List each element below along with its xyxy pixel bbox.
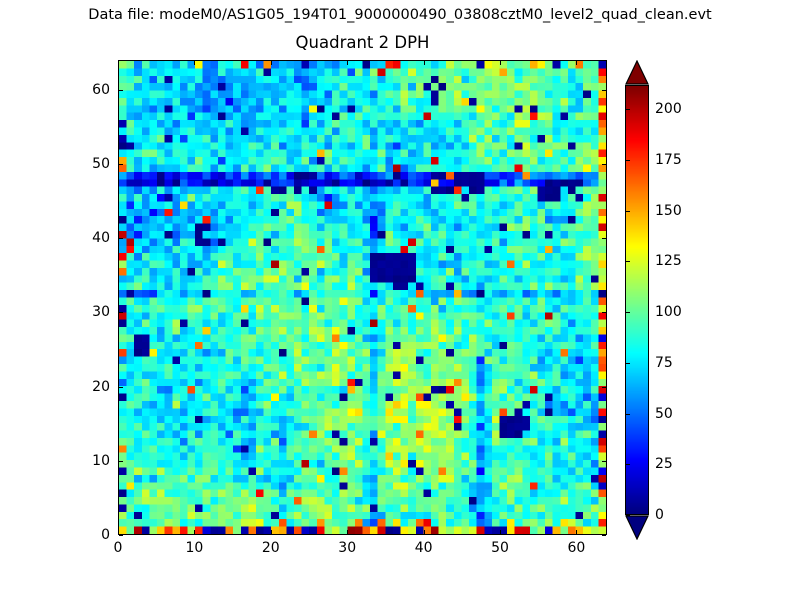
colorbar-gradient-body[interactable] — [625, 85, 649, 515]
x-tick-label: 60 — [546, 540, 606, 556]
colorbar-tick-label: 75 — [655, 355, 673, 371]
x-tick-mark-top — [271, 61, 272, 65]
y-tick-mark-right — [602, 387, 606, 388]
detector-plane-heatmap[interactable] — [119, 61, 606, 534]
page-title: Quadrant 2 DPH — [118, 33, 607, 53]
x-tick-mark-top — [424, 61, 425, 65]
y-tick-mark — [119, 535, 123, 536]
x-tick-mark-top — [576, 61, 577, 65]
colorbar-tick-label: 50 — [655, 406, 673, 422]
y-tick-label: 20 — [50, 379, 110, 395]
y-tick-mark — [119, 387, 123, 388]
x-tick-mark — [194, 530, 195, 534]
x-tick-mark — [271, 530, 272, 534]
colorbar-tick-mark — [626, 312, 630, 313]
colorbar-tick-mark — [626, 261, 630, 262]
colorbar[interactable]: 0255075100125150175200 — [625, 60, 649, 540]
y-tick-mark — [119, 461, 123, 462]
x-tick-label: 10 — [164, 540, 224, 556]
y-tick-label: 10 — [50, 453, 110, 469]
x-tick-label: 40 — [394, 540, 454, 556]
colorbar-tick-label: 200 — [655, 101, 682, 117]
x-tick-mark — [347, 530, 348, 534]
colorbar-tick-mark — [626, 464, 630, 465]
y-tick-mark-right — [602, 461, 606, 462]
x-tick-mark-top — [194, 61, 195, 65]
x-tick-mark — [424, 530, 425, 534]
x-tick-mark — [500, 530, 501, 534]
y-tick-label: 60 — [50, 82, 110, 98]
y-tick-mark-right — [602, 312, 606, 313]
y-tick-label: 50 — [50, 156, 110, 172]
y-tick-mark — [119, 90, 123, 91]
y-tick-mark — [119, 238, 123, 239]
y-tick-mark-right — [602, 90, 606, 91]
y-tick-label: 30 — [50, 304, 110, 320]
x-tick-label: 30 — [317, 540, 377, 556]
y-tick-mark-right — [602, 164, 606, 165]
colorbar-tick-mark — [626, 414, 630, 415]
colorbar-tick-mark — [626, 109, 630, 110]
y-tick-mark — [119, 164, 123, 165]
data-file-suptitle: Data file: modeM0/AS1G05_194T01_90000004… — [0, 7, 800, 24]
colorbar-tick-mark — [626, 363, 630, 364]
x-tick-label: 50 — [470, 540, 530, 556]
colorbar-tick-label: 175 — [655, 152, 682, 168]
colorbar-tick-label: 25 — [655, 456, 673, 472]
x-tick-mark — [576, 530, 577, 534]
colorbar-tick-mark — [626, 211, 630, 212]
heatmap-axes[interactable] — [118, 60, 607, 535]
colorbar-over-arrow-icon — [625, 60, 649, 85]
colorbar-tick-label: 150 — [655, 203, 682, 219]
colorbar-tick-mark — [626, 515, 630, 516]
y-tick-mark — [119, 312, 123, 313]
x-tick-mark-top — [500, 61, 501, 65]
x-tick-mark-top — [347, 61, 348, 65]
x-tick-label: 20 — [241, 540, 301, 556]
y-tick-mark-right — [602, 238, 606, 239]
x-tick-mark-top — [118, 61, 119, 65]
colorbar-under-arrow-icon — [625, 515, 649, 540]
x-tick-mark — [118, 530, 119, 534]
figure-canvas: Data file: modeM0/AS1G05_194T01_90000004… — [0, 0, 800, 600]
y-tick-mark-right — [602, 535, 606, 536]
y-tick-label: 0 — [50, 527, 110, 543]
colorbar-tick-label: 125 — [655, 253, 682, 269]
colorbar-tick-label: 100 — [655, 304, 682, 320]
colorbar-tick-mark — [626, 160, 630, 161]
y-tick-label: 40 — [50, 230, 110, 246]
colorbar-tick-label: 0 — [655, 507, 664, 523]
